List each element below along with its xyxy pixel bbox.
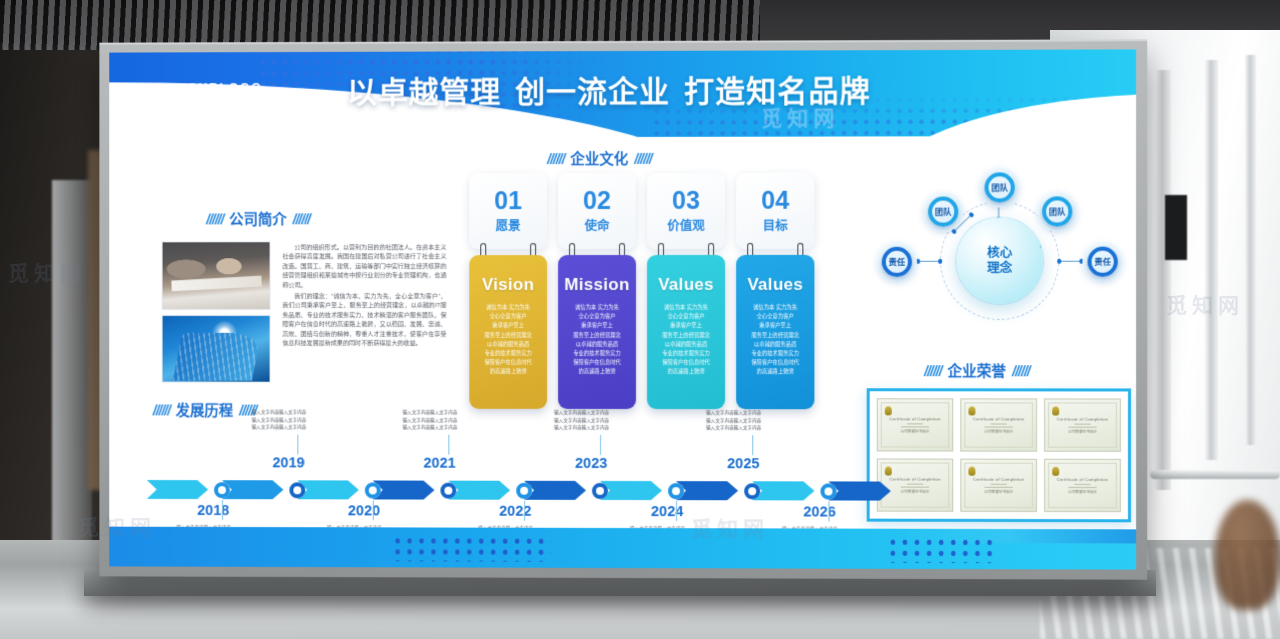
culture-card-body-values-04[interactable]: Values诚信为本 实力为先全心全意为客户秉承客户至上服务至上的经营理念以卓越…	[736, 255, 814, 409]
slash-left-icon: //////	[206, 211, 223, 227]
timeline-desc-line: 输入文字内容输入文字内容	[252, 424, 307, 432]
certificate-rule	[1074, 423, 1090, 424]
foreground-object	[1215, 500, 1280, 610]
culture-card-top-01[interactable]: 01愿景	[469, 173, 547, 249]
timeline-year-2018: 2018	[197, 503, 229, 519]
certificate-rule	[907, 423, 923, 424]
timeline-node-ring-icon	[516, 482, 532, 498]
handrail	[1150, 470, 1280, 479]
timeline-desc-line: 输入文字内容输入文字内容	[403, 409, 458, 417]
footer-dot-pattern-left	[392, 535, 551, 561]
culture-card-body-mission-02[interactable]: Mission诚信为本 实力为先全心全意为客户秉承客户至上服务至上的经营理念以卓…	[558, 255, 636, 409]
certificate-seal-icon	[885, 466, 892, 475]
timeline-node-ring-icon	[592, 482, 608, 498]
poster-footer-bar	[109, 527, 1136, 570]
core-concept-diagram: 核心 理念 团队 团队 团队 责任 责任	[867, 155, 1129, 361]
certificate-title: Certificate of Completion	[889, 416, 940, 421]
wall-mounted-panel	[1165, 195, 1187, 260]
certificate-rule	[907, 483, 923, 484]
timeline-node-ring-icon	[820, 483, 836, 499]
modern-building-photo	[162, 315, 271, 383]
certificate-rule	[984, 426, 1012, 427]
certificate-rule	[990, 483, 1006, 484]
timeline-desc-line: 输入文字内容输入文字内容	[403, 416, 458, 424]
slash-right-icon: //////	[634, 150, 651, 166]
culture-card-label: 价值观	[667, 215, 705, 234]
timeline-description-2023: 输入文字内容输入文字内容输入文字内容输入文字内容输入文字内容输入文字内容	[554, 409, 609, 432]
culture-card-number: 01	[494, 188, 522, 214]
corridor-pillar-1	[1155, 70, 1171, 490]
certificate-subtitle: 公司荣誉证书展示	[901, 429, 930, 434]
core-node-team-top[interactable]: 团队	[979, 167, 1019, 207]
culture-card-label: 使命	[585, 215, 610, 234]
timeline-description-2019: 输入文字内容输入文字内容输入文字内容输入文字内容输入文字内容输入文字内容	[252, 409, 307, 432]
title-part-2: 创一流企业	[515, 76, 670, 109]
section-title-company-intro: ////// 公司简介 //////	[206, 208, 310, 229]
timeline-arrow	[752, 481, 814, 500]
timeline-desc-line: 输入文字内容输入文字内容	[403, 424, 458, 432]
intro-paragraph-2: 我们的理念："诚信为本、实力为先，全心全意为客户"，我们公司秉承客户至上、服务至…	[282, 292, 446, 348]
footer-dot-pattern-right	[887, 537, 998, 563]
timeline-leader-line	[221, 500, 222, 520]
certificate-title: Certificate of Completion	[973, 476, 1024, 481]
core-node-label: 责任	[1088, 247, 1118, 277]
culture-card-top-03[interactable]: 03价值观	[647, 173, 725, 249]
slash-left-icon: //////	[547, 151, 564, 167]
certificate-seal-icon	[1052, 467, 1059, 476]
timeline-leader-line	[524, 501, 525, 521]
timeline-node-ring-icon	[289, 482, 305, 498]
culture-card-top-02[interactable]: 02使命	[558, 173, 636, 249]
core-node-responsibility-right[interactable]: 责任	[1082, 242, 1122, 282]
certificate-seal-icon	[968, 406, 975, 415]
timeline-node-2021[interactable]	[440, 482, 456, 498]
timeline-leader-line	[448, 435, 449, 455]
timeline-year-2019: 2019	[273, 455, 305, 471]
core-node-label: 团队	[928, 197, 958, 227]
timeline-description-2021: 输入文字内容输入文字内容输入文字内容输入文字内容输入文字内容输入文字内容	[403, 409, 458, 432]
certificate-seal-icon	[968, 467, 975, 476]
connector-left	[917, 261, 941, 262]
timeline-arrow	[600, 481, 662, 500]
certificate-subtitle: 公司荣誉证书展示	[1068, 489, 1097, 494]
certificate-rule	[1068, 486, 1096, 487]
timeline-node-2019[interactable]	[289, 482, 305, 498]
connector-right	[1058, 261, 1082, 262]
timeline-year-2023: 2023	[575, 456, 607, 472]
timeline-arrow	[448, 481, 510, 500]
culture-card-description: 诚信为本 实力为先全心全意为客户秉承客户至上服务至上的经营理念以卓越的服务品质专…	[736, 304, 814, 378]
display-board-frame: YOURLOGO NAME 以卓越管理创一流企业打造知名品牌 觅知网 觅知网 /…	[99, 39, 1147, 579]
certificate-seal-icon	[885, 406, 892, 415]
timeline-arrow	[297, 480, 359, 499]
poster-main-title: 以卓越管理创一流企业打造知名品牌	[347, 66, 885, 111]
culture-card-top-04[interactable]: 04目标	[736, 173, 814, 249]
development-timeline: 2018输入文字内容输入文字内容输入文字内容输入文字内容输入文字内容输入文字内容…	[141, 418, 849, 529]
timeline-year-2026: 2026	[803, 504, 835, 520]
timeline-leader-line	[372, 500, 373, 520]
culture-card-number: 04	[761, 188, 789, 214]
intro-paragraph-1: 公司的组织形式。以营利为目的的社团法人。在资本主义社会获得高度发展。我国在建国后…	[282, 243, 446, 290]
timeline-desc-line: 输入文字内容输入文字内容	[706, 409, 761, 417]
culture-card-number: 02	[583, 188, 611, 214]
culture-card-label: 愿景	[496, 215, 521, 234]
timeline-arrow	[373, 480, 435, 499]
core-node-responsibility-left[interactable]: 责任	[877, 242, 917, 282]
timeline-year-2025: 2025	[727, 456, 759, 472]
timeline-year-2022: 2022	[499, 504, 531, 520]
certificate-title: Certificate of Completion	[973, 416, 1024, 421]
certificate-rule	[901, 426, 929, 427]
certificate-subtitle: 公司荣誉证书展示	[984, 489, 1013, 494]
timeline-leader-line	[752, 435, 753, 455]
core-node-team-top-left[interactable]: 团队	[923, 192, 963, 232]
core-center-line-2: 理念	[987, 261, 1012, 276]
timeline-node-2023[interactable]	[592, 482, 608, 498]
timeline-leader-line	[600, 435, 601, 455]
timeline-year-2021: 2021	[424, 456, 456, 472]
certificate-item[interactable]: Certificate of Completion公司荣誉证书展示	[960, 398, 1037, 451]
corridor-pillar-3	[1245, 55, 1256, 445]
corridor-pillar-2	[1205, 60, 1218, 460]
core-center-line-1: 核心	[987, 246, 1012, 261]
certificate-item[interactable]: Certificate of Completion公司荣誉证书展示	[1044, 459, 1121, 512]
title-part-3: 打造知名品牌	[684, 75, 871, 109]
section-title-text: 公司简介	[229, 208, 286, 229]
timeline-desc-line: 输入文字内容输入文字内容	[252, 409, 307, 417]
company-logo: YOURLOGO NAME	[177, 81, 262, 111]
timeline-desc-line: 输入文字内容输入文字内容	[706, 424, 761, 432]
section-title-text: 发展历程	[176, 400, 233, 421]
culture-card-number: 03	[672, 188, 700, 214]
certificate-item[interactable]: Certificate of Completion公司荣誉证书展示	[960, 459, 1037, 512]
certificate-subtitle: 公司荣誉证书展示	[984, 429, 1013, 434]
culture-card-description: 诚信为本 实力为先全心全意为客户秉承客户至上服务至上的经营理念以卓越的服务品质专…	[558, 304, 636, 378]
culture-card-english-title: Mission	[558, 275, 636, 295]
certificate-item[interactable]: Certificate of Completion公司荣誉证书展示	[1044, 398, 1121, 451]
culture-card-description: 诚信为本 实力为先全心全意为客户秉承客户至上服务至上的经营理念以卓越的服务品质专…	[647, 304, 725, 378]
section-title-text: 企业文化	[570, 148, 628, 169]
certificate-rule	[984, 486, 1012, 487]
certificate-item[interactable]: Certificate of Completion公司荣誉证书展示	[877, 398, 954, 451]
timeline-year-2020: 2020	[348, 503, 380, 519]
slash-right-icon: //////	[293, 211, 310, 227]
timeline-node-ring-icon	[440, 482, 456, 498]
certificate-subtitle: 公司荣誉证书展示	[901, 489, 930, 494]
timeline-desc-line: 输入文字内容输入文字内容	[706, 417, 761, 425]
timeline-node-ring-icon	[214, 482, 230, 498]
certificate-rule	[1074, 483, 1090, 484]
certificate-title: Certificate of Completion	[889, 476, 940, 481]
timeline-desc-line: 输入文字内容输入文字内容	[252, 416, 307, 424]
core-node-team-top-right[interactable]: 团队	[1037, 191, 1077, 231]
slash-left-icon: //////	[153, 402, 170, 418]
timeline-node-ring-icon	[668, 483, 684, 499]
culture-card-body-vision-01[interactable]: Vision诚信为本 实力为先全心全意为客户秉承客户至上服务至上的经营理念以卓越…	[469, 255, 547, 409]
timeline-leader-line	[297, 435, 298, 455]
timeline-arrow	[222, 480, 283, 499]
timeline-arrow	[147, 480, 208, 499]
timeline-leader-line	[828, 501, 829, 521]
section-title-honor: ////// 企业荣誉 //////	[924, 360, 1030, 381]
slash-right-icon: //////	[1012, 363, 1030, 379]
business-meeting-photo	[162, 241, 271, 310]
core-node-label: 团队	[1042, 196, 1072, 226]
timeline-node-ring-icon	[744, 483, 760, 499]
section-title-text: 企业荣誉	[948, 360, 1006, 381]
title-part-1: 以卓越管理	[347, 76, 501, 109]
certificate-title: Certificate of Completion	[1057, 476, 1108, 481]
company-intro-text: 公司的组织形式。以营利为目的的社团法人。在资本主义社会获得高度发展。我国在建国后…	[282, 243, 446, 350]
room-scene: 觅知网 觅知网 觅知网 YOURLOGO NAME 以卓越管理创一流企业打造知名…	[0, 0, 1280, 639]
culture-card-english-title: Values	[647, 275, 725, 295]
timeline-node-2024[interactable]	[668, 483, 684, 499]
certificate-rule	[1068, 426, 1096, 427]
certificate-seal-icon	[1052, 407, 1059, 416]
culture-card-body-values-03[interactable]: Values诚信为本 实力为先全心全意为客户秉承客户至上服务至上的经营理念以卓越…	[647, 255, 725, 409]
timeline-node-2022[interactable]	[516, 482, 532, 498]
honor-certificates-grid: Certificate of Completion公司荣誉证书展示Certifi…	[867, 388, 1131, 522]
timeline-node-ring-icon	[365, 482, 381, 498]
timeline-arrow	[828, 481, 890, 500]
timeline-arrow	[524, 481, 586, 500]
slash-left-icon: //////	[924, 363, 941, 379]
timeline-year-2024: 2024	[651, 504, 683, 520]
core-concept-center: 核心 理念	[956, 218, 1043, 304]
timeline-desc-line: 输入文字内容输入文字内容	[554, 424, 609, 432]
core-node-label: 团队	[985, 172, 1015, 202]
timeline-arrow	[676, 481, 738, 500]
timeline-desc-line: 输入文字内容输入文字内容	[554, 409, 609, 417]
timeline-node-2018[interactable]	[214, 482, 230, 498]
timeline-node-2026[interactable]	[820, 483, 836, 499]
culture-card-english-title: Vision	[469, 275, 547, 295]
culture-card-english-title: Values	[736, 275, 814, 295]
logo-line-2: NAME	[177, 96, 262, 111]
logo-line-1: YOURLOGO	[177, 81, 262, 96]
section-title-culture: ////// 企业文化 //////	[547, 148, 652, 169]
timeline-node-2025[interactable]	[744, 483, 760, 499]
culture-wall-poster: YOURLOGO NAME 以卓越管理创一流企业打造知名品牌 觅知网 觅知网 /…	[109, 49, 1136, 569]
section-title-timeline: ////// 发展历程 //////	[153, 399, 257, 420]
culture-card-description: 诚信为本 实力为先全心全意为客户秉承客户至上服务至上的经营理念以卓越的服务品质专…	[469, 304, 547, 378]
timeline-description-2025: 输入文字内容输入文字内容输入文字内容输入文字内容输入文字内容输入文字内容	[706, 409, 761, 432]
timeline-leader-line	[676, 501, 677, 521]
certificate-subtitle: 公司荣誉证书展示	[1068, 429, 1097, 434]
timeline-node-2020[interactable]	[365, 482, 381, 498]
timeline-desc-line: 输入文字内容输入文字内容	[554, 417, 609, 425]
core-node-label: 责任	[882, 247, 912, 277]
certificate-rule	[990, 423, 1006, 424]
certificate-title: Certificate of Completion	[1057, 416, 1108, 421]
certificate-rule	[901, 486, 929, 487]
culture-card-label: 目标	[763, 215, 788, 234]
